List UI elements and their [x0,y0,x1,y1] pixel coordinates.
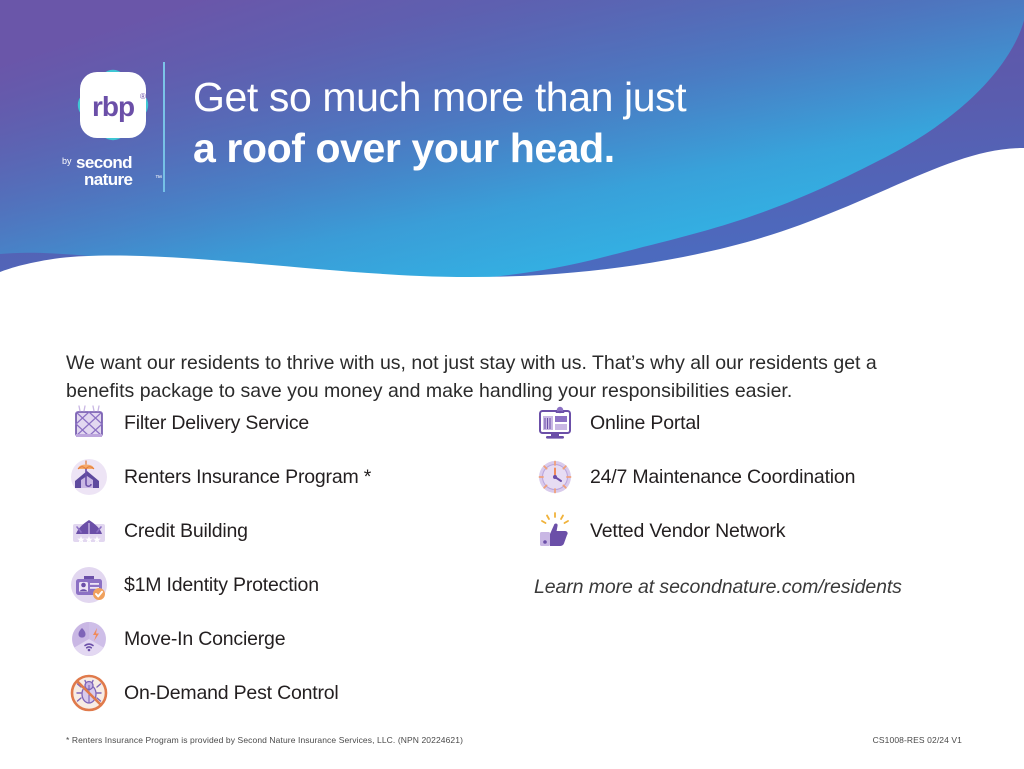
benefit-label: On-Demand Pest Control [124,682,339,705]
benefit-vetted-vendor: Vetted Vendor Network [532,504,972,558]
online-portal-icon [532,400,578,446]
filter-delivery-icon [66,400,112,446]
benefit-label: $1M Identity Protection [124,574,319,597]
benefit-pest-control: On-Demand Pest Control [66,666,516,720]
benefit-label: Renters Insurance Program * [124,466,371,489]
benefit-renters-insurance: Renters Insurance Program * [66,450,516,504]
benefit-label: Credit Building [124,520,248,543]
hero-banner: rbp ® by second nature ™ Get so much mor… [0,0,1024,300]
renters-insurance-icon [66,454,112,500]
identity-protection-icon [66,562,112,608]
benefit-credit-building: Credit Building [66,504,516,558]
vetted-vendor-icon [532,508,578,554]
credit-building-icon [66,508,112,554]
learn-more-text[interactable]: Learn more at secondnature.com/residents [534,576,972,599]
rbp-logo-mark-icon: rbp ® [70,62,156,148]
svg-text:nature: nature [84,170,133,189]
second-nature-wordmark: by second nature ™ [60,150,165,192]
pest-control-icon [66,670,112,716]
header-divider [163,62,165,192]
benefit-identity-protection: $1M Identity Protection [66,558,516,612]
benefits-column-left: Filter Delivery Service Renters Insuranc… [66,396,516,720]
svg-text:by: by [62,156,72,166]
footnote-disclaimer: * Renters Insurance Program is provided … [66,735,463,745]
move-in-concierge-icon [66,616,112,662]
benefit-maintenance-coordination: 24/7 Maintenance Coordination [532,450,972,504]
maintenance-clock-icon [532,454,578,500]
headline-line-2: a roof over your head. [193,123,893,174]
benefit-label: Online Portal [590,412,700,435]
svg-text:®: ® [140,92,146,101]
benefit-filter-delivery: Filter Delivery Service [66,396,516,450]
benefit-move-in-concierge: Move-In Concierge [66,612,516,666]
benefit-label: 24/7 Maintenance Coordination [590,466,855,489]
svg-text:™: ™ [155,175,162,182]
headline-line-1: Get so much more than just [193,72,893,123]
benefit-online-portal: Online Portal [532,396,972,450]
svg-text:rbp: rbp [92,91,134,122]
hero-headline: Get so much more than just a roof over y… [193,72,893,174]
document-code: CS1008-RES 02/24 V1 [873,735,962,745]
flyer-page: rbp ® by second nature ™ Get so much mor… [0,0,1024,769]
benefit-label: Vetted Vendor Network [590,520,785,543]
rbp-logo-lockup: rbp ® by second nature ™ [60,62,165,190]
benefits-column-right: Online Portal [532,396,972,599]
benefit-label: Move-In Concierge [124,628,285,651]
benefit-label: Filter Delivery Service [124,412,309,435]
